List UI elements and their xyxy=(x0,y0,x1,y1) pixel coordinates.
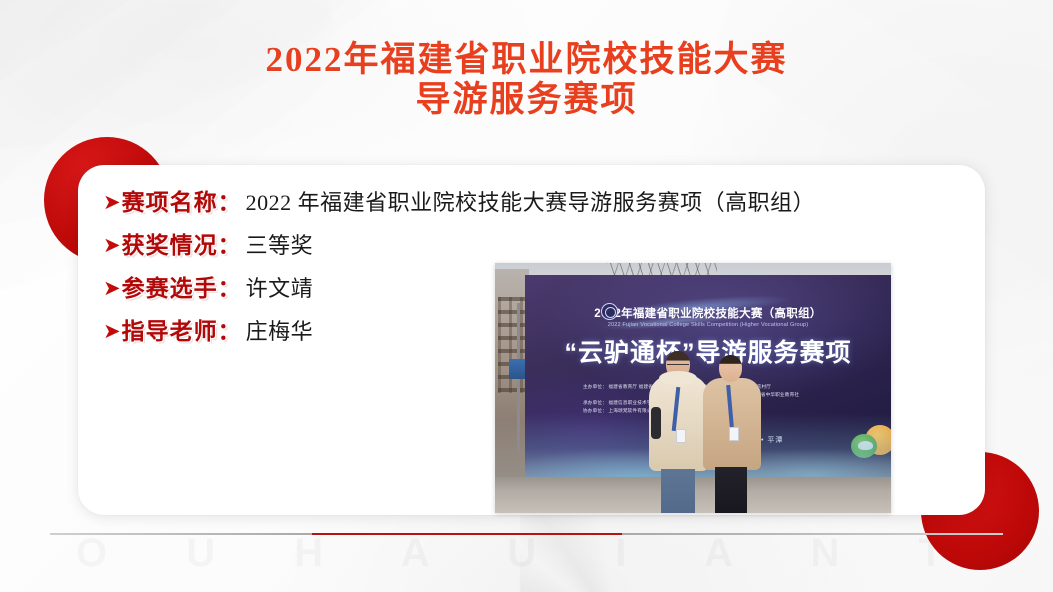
person-right-badge xyxy=(729,427,739,441)
slide-root: O U H A U I A N T 2022年福建省职业院校技能大赛 导游服务赛… xyxy=(0,0,1053,592)
photo-person-right xyxy=(703,355,761,513)
person-left-jeans xyxy=(661,469,695,513)
divider-segment-right xyxy=(622,533,1003,535)
page-title-line-2: 导游服务赛项 xyxy=(0,80,1053,120)
banner-place-label: • 平潭 xyxy=(761,435,783,445)
list-item-value: 2022 年福建省职业院校技能大赛导游服务赛项（高职组） xyxy=(246,185,816,217)
list-item-label: 指导老师： xyxy=(122,312,242,346)
banner-header-cn: 2022年福建省职业院校技能大赛（高职组） xyxy=(525,305,891,321)
person-left-badge xyxy=(676,429,686,443)
page-title: 2022年福建省职业院校技能大赛 导游服务赛项 xyxy=(0,40,1053,120)
person-left-bag xyxy=(651,407,661,439)
bullet-arrow-icon: ➤ xyxy=(103,278,121,299)
divider-segment-accent xyxy=(312,533,622,535)
person-right-pants xyxy=(715,467,747,513)
mascot-highlight xyxy=(858,441,873,450)
list-item-value: 许文靖 xyxy=(246,271,314,303)
person-right-head xyxy=(719,355,742,382)
list-item-label: 获奖情况： xyxy=(122,226,242,260)
competition-photo: 2022年福建省职业院校技能大赛（高职组） 2022 Fujian Vocati… xyxy=(495,263,891,513)
banner-header-en: 2022 Fujian Vocational College Skills Co… xyxy=(525,322,891,328)
person-left-glasses-icon xyxy=(667,364,689,369)
bottom-divider xyxy=(50,533,1003,535)
bullet-arrow-icon: ➤ xyxy=(103,235,121,256)
photo-person-left xyxy=(649,351,709,513)
bullet-arrow-icon: ➤ xyxy=(103,321,121,342)
list-item-label: 赛项名称： xyxy=(122,183,242,217)
divider-segment-left xyxy=(50,533,312,535)
list-item: ➤ 获奖情况： 三等奖 xyxy=(103,226,815,260)
banner-header: 2022年福建省职业院校技能大赛（高职组） 2022 Fujian Vocati… xyxy=(525,305,891,328)
list-item: ➤ 赛项名称： 2022 年福建省职业院校技能大赛导游服务赛项（高职组） xyxy=(103,183,815,217)
list-item-label: 参赛选手： xyxy=(122,269,242,303)
competition-emblem-icon xyxy=(601,303,618,320)
list-item-value: 三等奖 xyxy=(246,228,314,260)
person-left-fur-collar xyxy=(659,371,697,385)
watermark-letters: O U H A U I A N T xyxy=(0,531,1053,576)
list-item-value: 庄梅华 xyxy=(246,314,314,346)
bullet-arrow-icon: ➤ xyxy=(103,192,121,213)
banner-mascot-icon xyxy=(851,425,891,467)
page-title-line-1: 2022年福建省职业院校技能大赛 xyxy=(265,40,787,79)
content-card: ➤ 赛项名称： 2022 年福建省职业院校技能大赛导游服务赛项（高职组） ➤ 获… xyxy=(78,165,985,515)
